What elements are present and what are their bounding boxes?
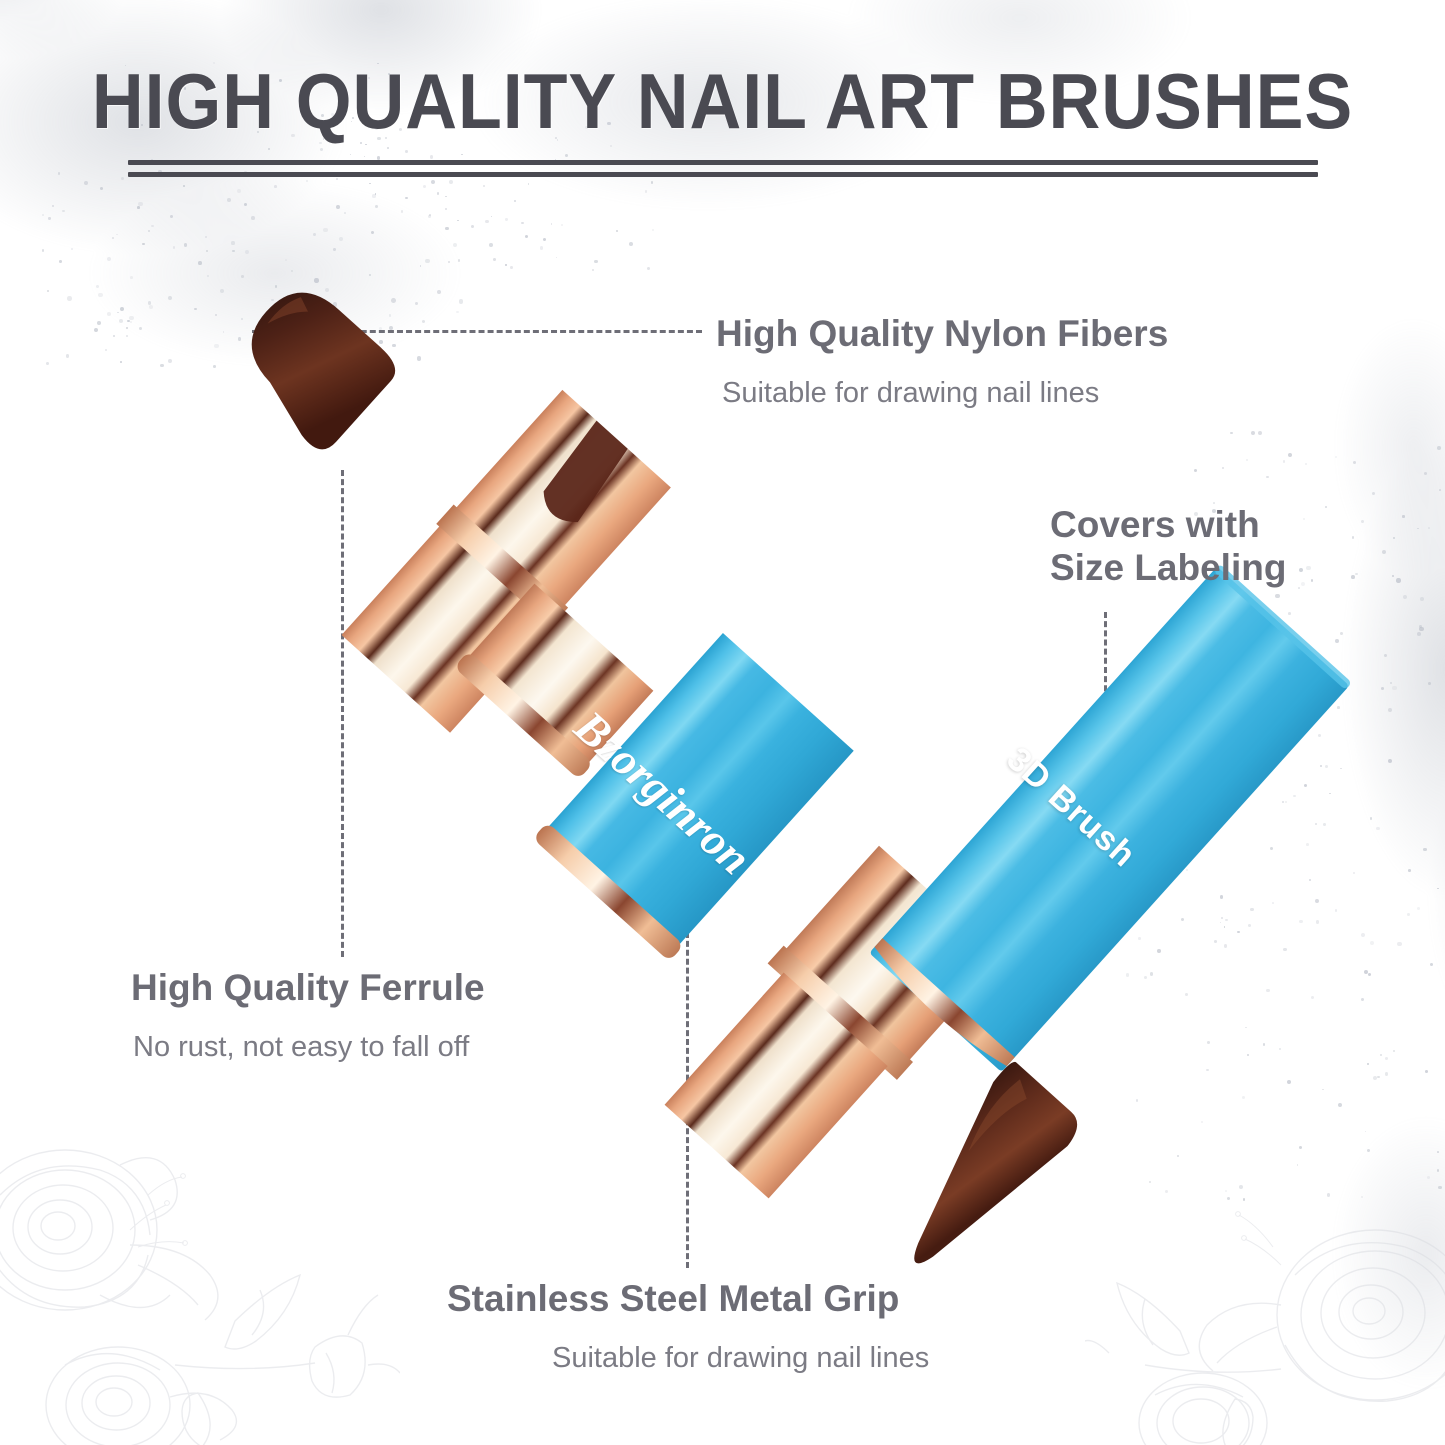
callout-covers-size-labeling: Covers with Size Labeling [1050, 504, 1286, 590]
flat-brush-tip [220, 275, 403, 457]
infographic-canvas: HIGH QUALITY NAIL ART BRUSHES [0, 0, 1445, 1445]
callout-high-quality-ferrule-subtitle: No rust, not easy to fall off [133, 1030, 485, 1065]
product-illustration [0, 0, 1445, 1445]
callout-high-quality-ferrule-title: High Quality Ferrule [131, 967, 485, 1010]
callout-covers-size-labeling-title: Covers with Size Labeling [1050, 504, 1286, 590]
bristle-point-shape [868, 1059, 1086, 1285]
bristle-flat-shape [220, 275, 403, 457]
callout-stainless-steel-metal-grip: Stainless Steel Metal Grip Suitable for … [447, 1278, 929, 1376]
callout-nylon-fibers-subtitle: Suitable for drawing nail lines [722, 376, 1168, 411]
callout-stainless-steel-metal-grip-subtitle: Suitable for drawing nail lines [552, 1341, 929, 1376]
callout-nylon-fibers-title: High Quality Nylon Fibers [716, 313, 1168, 356]
callout-nylon-fibers: High Quality Nylon Fibers Suitable for d… [716, 313, 1168, 411]
callout-high-quality-ferrule: High Quality Ferrule No rust, not easy t… [131, 967, 485, 1065]
callout-stainless-steel-metal-grip-title: Stainless Steel Metal Grip [447, 1278, 929, 1321]
pointed-brush-tip [868, 1059, 1086, 1285]
